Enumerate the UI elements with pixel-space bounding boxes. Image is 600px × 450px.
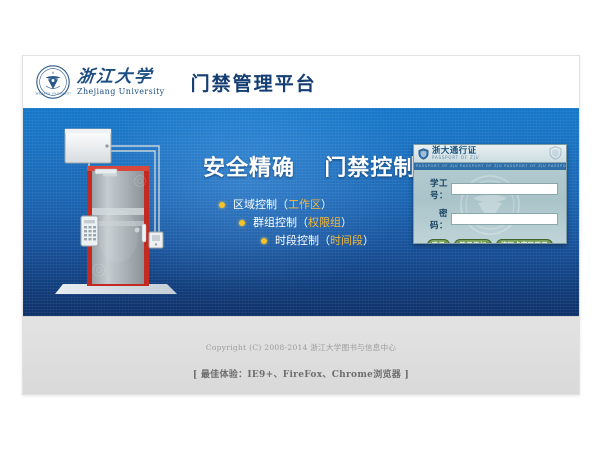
feature-label-group: 群组控制（ <box>253 214 308 232</box>
university-name-en: Zhejiang University <box>77 88 165 96</box>
university-name-block: 浙江大学 Zhejiang University <box>77 69 165 96</box>
login-brand-cn: 浙大通行证 <box>432 147 479 156</box>
copyright-text: Copyright (C) 2008-2014 浙江大学图书与信息中心 <box>23 317 579 353</box>
login-form: 学工号： 密 码： 登录 登录添加 校园卡密码登录 <box>414 170 566 244</box>
feature-label-time: 时段控制（ <box>275 232 330 250</box>
feature-item-time: 时段控制（ 时间段 ） <box>261 232 416 250</box>
zju-crest-icon: ZHEJIANG UNIVERSITY <box>35 64 71 100</box>
hero-banner: 安全精确 门禁控制 区域控制（ 工作区 ） 群组控制（ 权限组 <box>23 108 579 316</box>
shield-watermark-icon <box>549 146 562 160</box>
login-button[interactable]: 登录 <box>427 239 451 244</box>
feature-label-area: 区域控制（ <box>233 196 288 214</box>
feature-tail-group: ） <box>341 214 352 232</box>
browser-note: [ 最佳体验：IE9+、FireFox、Chrome浏览器 ] <box>23 367 579 380</box>
feature-item-group: 群组控制（ 权限组 ） <box>239 214 416 232</box>
password-input[interactable] <box>451 213 558 225</box>
login-button-row: 登录 登录添加 校园卡密码登录 <box>422 239 558 244</box>
bullet-dot-icon <box>261 238 267 244</box>
access-control-door-illustration <box>45 124 185 304</box>
feature-highlight-time: 时间段 <box>330 232 363 250</box>
feature-list: 区域控制（ 工作区 ） 群组控制（ 权限组 ） 时段控制（ 时间段 <box>203 196 416 250</box>
campus-card-login-button[interactable]: 校园卡密码登录 <box>496 239 554 244</box>
feature-item-area: 区域控制（ 工作区 ） <box>219 196 416 214</box>
login-panel: 浙大通行证 PASSPORT OF ZJU PASSPORT OF ZJU PA… <box>413 144 567 244</box>
page-title: 门禁管理平台 <box>191 69 317 96</box>
login-brand-en: PASSPORT OF ZJU <box>432 156 479 160</box>
main-card: ZHEJIANG UNIVERSITY 浙江大学 Zhejiang Univer… <box>22 55 580 395</box>
page-root: ZHEJIANG UNIVERSITY 浙江大学 Zhejiang Univer… <box>0 0 600 450</box>
university-name-cn: 浙江大学 <box>76 69 165 86</box>
userid-input[interactable] <box>451 183 558 195</box>
shield-icon <box>418 148 429 160</box>
userid-label: 学工号： <box>422 177 451 201</box>
password-label: 密 码： <box>422 207 451 231</box>
site-footer: Copyright (C) 2008-2014 浙江大学图书与信息中心 [ 最佳… <box>23 316 579 395</box>
feature-tail-time: ） <box>363 232 374 250</box>
form-row-userid: 学工号： <box>422 177 558 201</box>
hero-slogan-right: 门禁控制 <box>324 156 416 181</box>
feature-highlight-area: 工作区 <box>288 196 321 214</box>
feature-tail-area: ） <box>321 196 332 214</box>
bullet-dot-icon <box>219 202 225 208</box>
svg-text:ZHEJIANG UNIVERSITY: ZHEJIANG UNIVERSITY <box>35 91 71 95</box>
form-row-password: 密 码： <box>422 207 558 231</box>
feature-highlight-group: 权限组 <box>308 214 341 232</box>
login-panel-strip: PASSPORT OF ZJU PASSPORT OF ZJU PASSPORT… <box>414 163 566 170</box>
site-header: ZHEJIANG UNIVERSITY 浙江大学 Zhejiang Univer… <box>23 56 579 108</box>
hero-copy: 安全精确 门禁控制 区域控制（ 工作区 ） 群组控制（ 权限组 <box>203 150 416 266</box>
bullet-dot-icon <box>239 220 245 226</box>
hero-slogan-left: 安全精确 <box>203 156 295 181</box>
login-brand: 浙大通行证 PASSPORT OF ZJU <box>432 147 479 161</box>
login-panel-titlebar: 浙大通行证 PASSPORT OF ZJU <box>414 145 566 163</box>
login-add-button[interactable]: 登录添加 <box>454 239 491 244</box>
hero-slogan: 安全精确 门禁控制 <box>203 150 416 182</box>
